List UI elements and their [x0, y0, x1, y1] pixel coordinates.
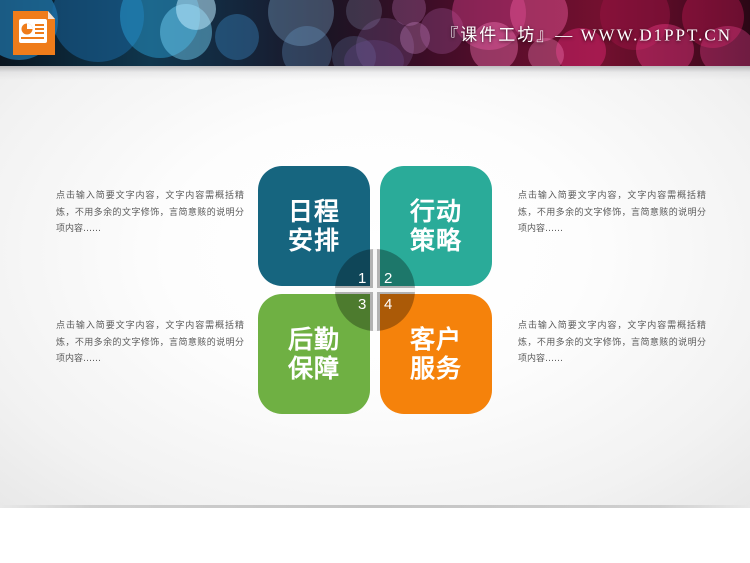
petal-label-line2: 保障 [288, 354, 340, 384]
header-shadow [0, 66, 750, 80]
note-bottom-right[interactable]: 点击输入简要文字内容，文字内容需概括精炼，不用多余的文字修饰，言简意赅的说明分项… [518, 318, 706, 368]
hub-gap-horizontal [335, 288, 415, 292]
petal-number-4: 4 [384, 296, 392, 313]
petal-label-line1: 日程 [288, 197, 340, 227]
four-petal-diagram: 日程 安排 行动 策略 后勤 保障 客户 服务 1 2 3 4 [258, 166, 492, 414]
note-bottom-left[interactable]: 点击输入简要文字内容，文字内容需概括精炼，不用多余的文字修饰，言简意赅的说明分项… [56, 318, 244, 368]
hub-gap-vertical [373, 249, 377, 331]
petal-schedule[interactable]: 日程 安排 [258, 166, 370, 286]
petal-customer-service[interactable]: 客户 服务 [380, 294, 492, 414]
petal-action-strategy[interactable]: 行动 策略 [380, 166, 492, 286]
petal-number-1: 1 [358, 270, 366, 287]
powerpoint-document-icon[interactable] [10, 8, 58, 58]
petal-label-line1: 后勤 [288, 325, 340, 355]
petal-label-line2: 安排 [288, 226, 340, 256]
petal-label-line2: 策略 [410, 226, 462, 256]
header-title: 『课件工坊』— WWW.D1PPT.CN [441, 21, 732, 46]
note-top-left[interactable]: 点击输入简要文字内容，文字内容需概括精炼，不用多余的文字修饰，言简意赅的说明分项… [56, 188, 244, 238]
petal-label-line1: 客户 [410, 325, 462, 355]
footer-bar: 课件工坊 HTTP://WWW.D1PPT.CN [0, 508, 750, 563]
petal-number-3: 3 [358, 296, 366, 313]
petal-logistics[interactable]: 后勤 保障 [258, 294, 370, 414]
petal-number-2: 2 [384, 270, 392, 287]
header-banner: 『课件工坊』— WWW.D1PPT.CN [0, 0, 750, 66]
petal-label-line2: 服务 [410, 354, 462, 384]
petal-label-line1: 行动 [410, 197, 462, 227]
note-top-right[interactable]: 点击输入简要文字内容，文字内容需概括精炼，不用多余的文字修饰，言简意赅的说明分项… [518, 188, 706, 238]
bokeh-circle [215, 14, 259, 60]
